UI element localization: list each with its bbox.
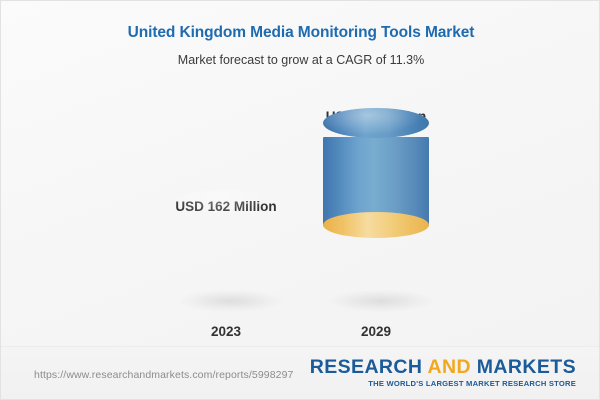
- brand-logo[interactable]: RESEARCH AND MARKETS THE WORLD'S LARGEST…: [310, 357, 576, 388]
- logo-tagline: THE WORLD'S LARGEST MARKET RESEARCH STOR…: [310, 379, 576, 388]
- chart-header: United Kingdom Media Monitoring Tools Ma…: [1, 1, 600, 67]
- logo-wordmark: RESEARCH AND MARKETS: [310, 357, 576, 377]
- bar-cap-highlight-icon: [323, 108, 429, 138]
- footer-bar: https://www.researchandmarkets.com/repor…: [1, 346, 600, 399]
- logo-word-research: RESEARCH: [310, 356, 423, 378]
- source-url-link[interactable]: https://www.researchandmarkets.com/repor…: [34, 369, 293, 381]
- chart-subtitle: Market forecast to grow at a CAGR of 11.…: [1, 42, 600, 67]
- bar-cap-highlight-icon: [173, 190, 279, 220]
- logo-word-markets: MARKETS: [477, 356, 576, 378]
- bar-body-2029: [323, 123, 429, 306]
- axis-tick-label-2029: 2029: [361, 324, 391, 339]
- bar-segment-base-2023: [173, 219, 279, 306]
- bar-segment-seam-2029: [323, 212, 429, 238]
- page-title: United Kingdom Media Monitoring Tools Ma…: [1, 1, 600, 42]
- bar-cap-top-2023: [173, 190, 279, 220]
- bar-cylinder-2023[interactable]: [173, 205, 279, 306]
- bar-cylinder-2029[interactable]: [323, 123, 429, 306]
- bar-cap-top-2029: [323, 108, 429, 138]
- axis-tick-label-2023: 2023: [211, 324, 241, 339]
- chart-card: United Kingdom Media Monitoring Tools Ma…: [0, 0, 600, 400]
- chart-plot-area: USD 162 Million 2023 USD 311 Million: [1, 81, 600, 346]
- logo-word-and: AND: [428, 356, 471, 378]
- bar-body-2023: [173, 205, 279, 306]
